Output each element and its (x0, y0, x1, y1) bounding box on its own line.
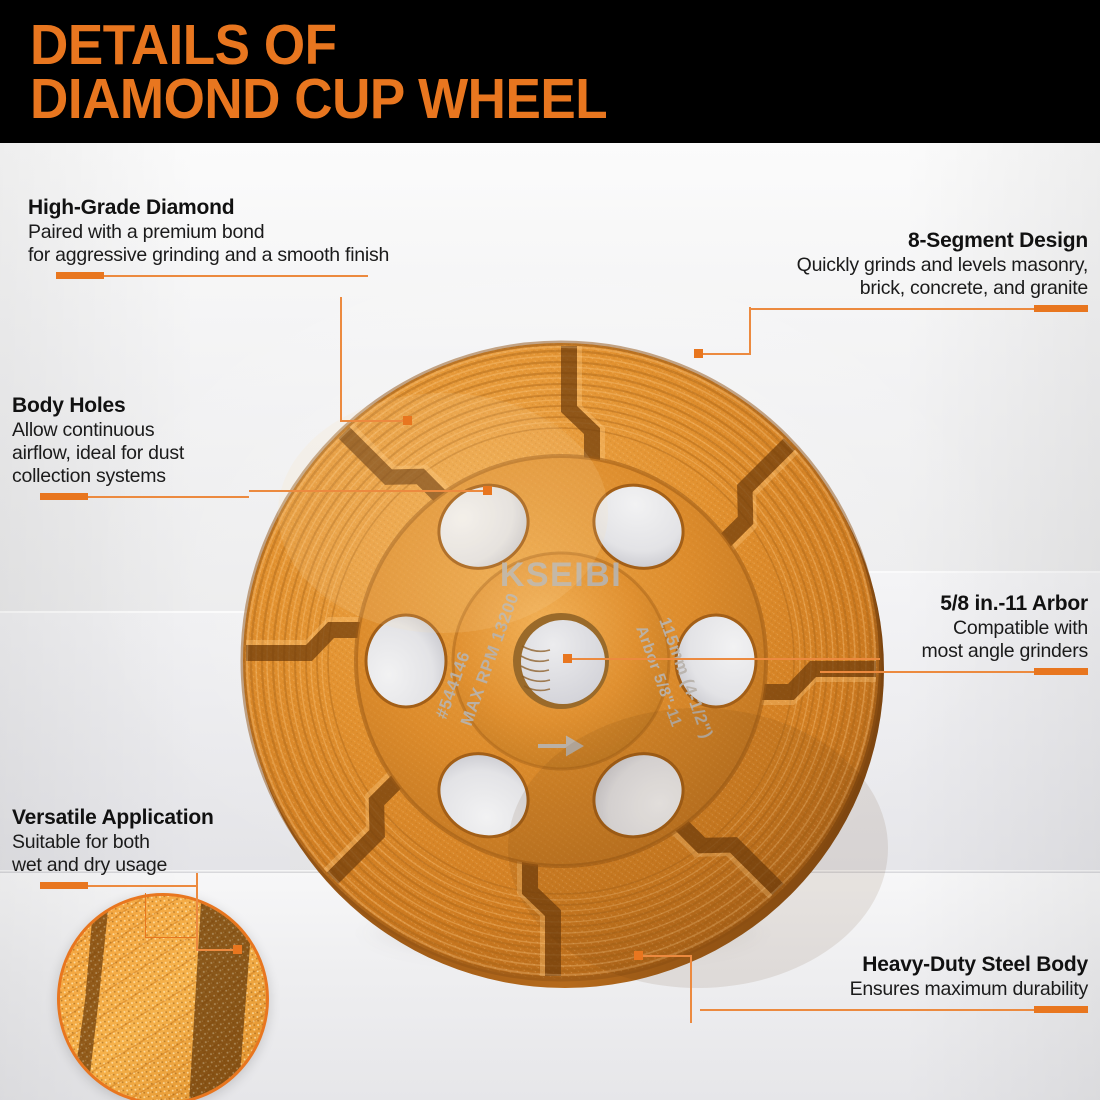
callout-body-arbor: Compatible with most angle grinders (820, 617, 1088, 663)
callout-title-heavy-duty-steel-body: Heavy-Duty Steel Body (700, 952, 1088, 978)
callout-body-eight-segment-design: Quickly grinds and levels masonry, brick… (640, 254, 1088, 300)
callout-arbor[interactable]: 5/8 in.-11 Arbor Compatible with most an… (820, 591, 1088, 675)
callout-rule-high-grade-diamond (28, 272, 548, 279)
callout-body-holes[interactable]: Body Holes Allow continuous airflow, ide… (12, 393, 272, 500)
callout-high-grade-diamond[interactable]: High-Grade Diamond Paired with a premium… (28, 195, 548, 279)
callout-rule-body-holes (12, 493, 272, 500)
anchor-dot-heavy-duty-steel-body (634, 951, 643, 960)
header-banner: DETAILS OF DIAMOND CUP WHEEL (0, 0, 1100, 143)
anchor-dot-body-holes (483, 486, 492, 495)
callout-title-eight-segment-design: 8-Segment Design (640, 228, 1088, 254)
infographic-stage: KSEIBI #544146 MAX RPM 13200 115mm (4-1/… (0, 0, 1100, 1100)
callout-title-arbor: 5/8 in.-11 Arbor (820, 591, 1088, 617)
callout-rule-versatile-application (12, 882, 292, 889)
callout-title-body-holes: Body Holes (12, 393, 272, 419)
callout-title-high-grade-diamond: High-Grade Diamond (28, 195, 548, 221)
callout-title-versatile-application: Versatile Application (12, 805, 292, 831)
product-photo-diamond-cup-wheel: KSEIBI #544146 MAX RPM 13200 115mm (4-1/… (228, 328, 894, 994)
diamond-cup-wheel-illustration: KSEIBI #544146 MAX RPM 13200 115mm (4-1/… (228, 328, 894, 994)
page-title: DETAILS OF DIAMOND CUP WHEEL (30, 18, 607, 126)
callout-rule-heavy-duty-steel-body (700, 1006, 1088, 1013)
anchor-dot-eight-segment-design (694, 349, 703, 358)
callout-versatile-application[interactable]: Versatile Application Suitable for both … (12, 805, 292, 889)
callout-body-versatile-application: Suitable for both wet and dry usage (12, 831, 292, 877)
anchor-dot-high-grade-diamond (403, 416, 412, 425)
inset-highlight-box (145, 893, 197, 938)
callout-rule-arbor (820, 668, 1088, 675)
callout-heavy-duty-steel-body[interactable]: Heavy-Duty Steel Body Ensures maximum du… (700, 952, 1088, 1013)
callout-body-high-grade-diamond: Paired with a premium bond for aggressiv… (28, 221, 548, 267)
anchor-dot-arbor (563, 654, 572, 663)
callout-body-heavy-duty-steel-body: Ensures maximum durability (700, 978, 1088, 1001)
callout-rule-eight-segment-design (640, 305, 1088, 312)
callout-eight-segment-design[interactable]: 8-Segment Design Quickly grinds and leve… (640, 228, 1088, 312)
callout-body-body-holes: Allow continuous airflow, ideal for dust… (12, 419, 272, 488)
anchor-dot-versatile-application (233, 945, 242, 954)
